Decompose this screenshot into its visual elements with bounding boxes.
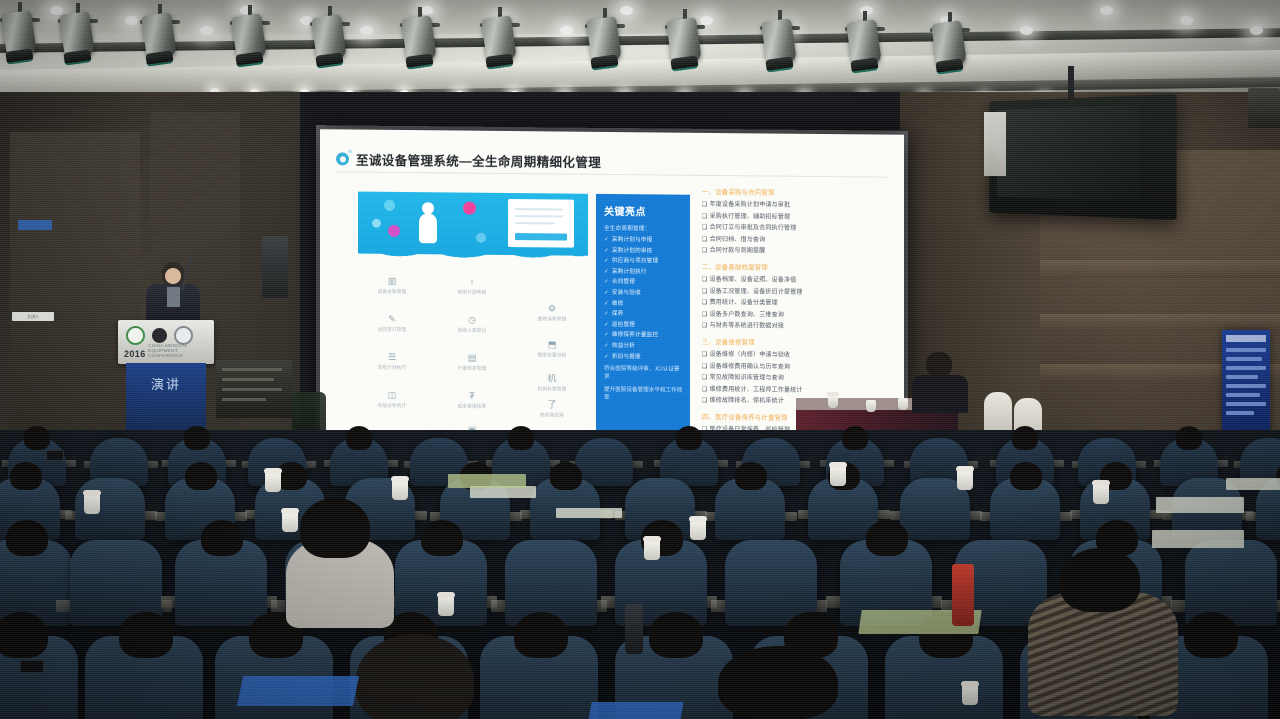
audience-person [300, 498, 370, 558]
cup-lid [827, 392, 839, 396]
poster-line [1226, 366, 1266, 370]
paper [1152, 530, 1244, 548]
check-icon: ✓ [604, 248, 609, 254]
paper-cup [392, 480, 408, 500]
feature-icon: ☰ [356, 352, 428, 364]
key-points-subheading: 全生命周期管理： [604, 224, 690, 233]
cup-lid [391, 476, 409, 482]
paper [556, 508, 622, 518]
checkbox-icon: ❑ [702, 312, 708, 318]
feature-section-heading: 二、设备基础档案管理 [702, 262, 890, 273]
poster-line [1226, 384, 1266, 388]
stage-spotlight [400, 17, 440, 73]
paper-cup [438, 596, 454, 616]
cup-lid [689, 516, 707, 522]
paper-cup [265, 472, 281, 492]
key-points-heading: 关键亮点 [604, 203, 690, 219]
slide-title-rule [336, 171, 888, 177]
downlight [1250, 26, 1263, 35]
feature-icon-label: 机构科室管理 [516, 386, 588, 393]
audience-person [514, 612, 568, 658]
audience-person [1060, 548, 1140, 612]
feature-section-item: ❑维修费用统计、工程师工作量统计 [702, 384, 890, 395]
check-icon: ✓ [604, 300, 609, 306]
key-point-item: ✓采购计划与申报 [604, 235, 690, 244]
paper-cup [644, 540, 660, 560]
key-point-item: ✓保养 [604, 309, 690, 318]
slide-icon-item: ◫效益分析统计 [356, 390, 428, 410]
podium: 2016 CHINA MEDICAL EQUIPMENT CONFERENCE … [118, 320, 214, 438]
slide-illustration-banner [358, 192, 588, 256]
illustration-card-button [515, 233, 567, 240]
key-point-item: ✓供应商与项目管理 [604, 256, 690, 265]
checkbox-icon: ❑ [702, 352, 708, 358]
downlight [360, 26, 373, 35]
water-bottle-red [952, 564, 974, 626]
check-icon: ✓ [604, 332, 609, 338]
audience-person [185, 462, 217, 490]
key-points-list: ✓采购计划与申报✓采购计划的审核✓供应商与项目管理✓采购计划执行✓合同管理✓安装… [596, 235, 690, 360]
poster-line [1226, 402, 1266, 406]
feature-icon-label: 采购计划申报 [436, 289, 508, 296]
audience-person [119, 612, 173, 658]
audience-person [0, 612, 48, 658]
feature-icon: 机 [516, 373, 588, 385]
paper-green [448, 474, 526, 488]
audience-person [676, 426, 702, 450]
wall-speaker-right [1248, 88, 1280, 128]
gear-icon [336, 152, 349, 165]
feature-section-item: ❑设备维修费用确认与历年查询 [702, 360, 890, 371]
cup-lid [1092, 480, 1110, 486]
illustration-login-card [508, 199, 574, 248]
slide-icon-item: ▥设备台账管理 [356, 276, 428, 296]
key-point-item: ✓安装与验收 [604, 288, 690, 297]
audience-person [356, 634, 474, 719]
key-point-item: ✓采购计划执行 [604, 267, 690, 276]
audience-person [866, 520, 908, 556]
checkbox-icon: ❑ [702, 213, 708, 219]
cup-lid [829, 462, 847, 468]
ceiling-monitor [989, 94, 1176, 220]
paper-cup [962, 685, 978, 705]
seated-attendee-head-table [912, 352, 968, 412]
audience-person [10, 462, 42, 490]
feature-section-item: ❑费用统计、设备分类管理 [702, 297, 890, 308]
person-illustration [418, 202, 438, 244]
podium-nameplate: 主讲人 [12, 312, 54, 321]
wall-band-a [1040, 260, 1280, 278]
key-point-item: ✓采购计划的审核 [604, 246, 690, 255]
downlight [200, 26, 213, 35]
decor-bubble [476, 233, 486, 243]
check-icon: ✓ [604, 279, 609, 285]
stage-spotlight [140, 14, 180, 70]
monitor-screen [997, 105, 1139, 201]
presenter [146, 262, 200, 324]
checkbox-icon: ❑ [702, 237, 708, 243]
poster-line [1226, 411, 1254, 415]
feature-icon-label: 成本费用核算 [436, 403, 508, 410]
downlight [1100, 6, 1113, 15]
feature-icon: ◷ [436, 314, 508, 326]
cup-lid [643, 536, 661, 542]
slide-icon-item: ⚙维修保养管理 [516, 303, 588, 323]
av-equipment-rack [216, 360, 292, 418]
cup-lid [961, 681, 979, 687]
presenter-shirt [167, 287, 180, 307]
feature-icon: ▤ [436, 352, 508, 364]
stage-spotlight [310, 16, 350, 72]
paper-cup [1093, 484, 1109, 504]
slide-icon-item: ◷验收入库登记 [436, 314, 508, 334]
feature-section-item: ❑合同付款与到期提醒 [702, 245, 890, 256]
downlight [560, 26, 573, 35]
paper-cup [957, 470, 973, 490]
checkbox-icon: ❑ [702, 387, 708, 393]
feature-icon-label: 设备台账管理 [356, 289, 428, 296]
checkbox-icon: ❑ [702, 300, 708, 306]
decor-bubble [372, 219, 381, 228]
checkbox-icon: ❑ [702, 398, 708, 404]
cup-lid [956, 466, 974, 472]
checkbox-icon: ❑ [702, 323, 708, 329]
slide-icon-item: ☰巡检计划执行 [356, 352, 428, 372]
slide-icon-grid: ▥设备台账管理↑采购计划申报✎合同签订管理◷验收入库登记⚙维修保养管理☰巡检计划… [356, 276, 596, 438]
key-point-item: ✓合同管理 [604, 277, 690, 286]
water-bottle-dark [625, 604, 643, 654]
audience-person [6, 520, 48, 556]
audience-person [1184, 612, 1238, 658]
slide-icon-item: ▤计量检定管理 [436, 352, 508, 372]
feature-icon: 了 [516, 399, 588, 411]
audience-person [718, 646, 838, 719]
poster-line [1226, 357, 1262, 361]
slide-title-row: 至诚设备管理系统—全生命周期精细化管理 [336, 149, 601, 171]
key-points-footnotes: 符合医院等级评审、JCI认证要求提升医院设备管理水平和工作效率 [596, 364, 690, 402]
paper-blue [588, 702, 683, 719]
paper-cup [282, 512, 298, 532]
feature-icon-label: 计量检定管理 [436, 365, 508, 372]
decor-bubble [463, 202, 476, 215]
monitor-side-panel [984, 112, 1006, 176]
poster-title-band [1226, 335, 1266, 342]
checkbox-icon: ❑ [702, 288, 708, 294]
audience-chair [575, 438, 633, 486]
feature-icon-label: 报废处置流程 [516, 352, 588, 359]
key-point-item: ✓效益分析 [604, 341, 690, 350]
audience-person [842, 426, 868, 450]
cup-lid [264, 468, 282, 474]
wall-poster [1222, 330, 1270, 434]
audience-person [184, 426, 210, 450]
stage-spotlight [480, 17, 520, 73]
slide-icon-item: ⬒报废处置流程 [516, 339, 588, 359]
downlight [1180, 16, 1193, 25]
circle-green-logo-icon [126, 326, 145, 345]
checkbox-icon: ❑ [702, 225, 708, 231]
feature-icon-label: 移动端应用 [516, 412, 588, 419]
downlight [620, 6, 633, 15]
key-points-footnote: 提升医院设备管理水平和工作效率 [604, 385, 684, 402]
feature-section-item: ❑与财务等系统进行数据对接 [702, 320, 890, 331]
ceiling-back-panel [0, 0, 1280, 34]
paper-blue [237, 676, 359, 706]
feature-section-item: ❑常见故障知识库管理与查询 [702, 372, 890, 383]
paper [1156, 497, 1244, 513]
cup-lid [437, 592, 455, 598]
feature-icon: ✎ [356, 314, 428, 326]
downlight [125, 16, 138, 25]
feature-section-item: ❑设备维修（内修）申请与验收 [702, 349, 890, 360]
stage-spotlight [665, 19, 705, 75]
presenter-face [165, 268, 181, 284]
audience-person [550, 462, 582, 490]
circle-dark-logo-icon [152, 328, 167, 343]
paper-cup [830, 466, 846, 486]
feature-icon-label: 巡检计划执行 [356, 365, 428, 372]
slide-title: 至诚设备管理系统—全生命周期精细化管理 [356, 150, 601, 171]
cup [866, 400, 876, 412]
feature-section-heading: 一、设备采购与合同管理 [702, 187, 890, 198]
wall-band-b [1040, 314, 1280, 330]
stage-spotlight [58, 13, 98, 69]
stage-spotlight [845, 21, 885, 77]
poster-line [1226, 393, 1260, 397]
feature-section-item: ❑年度设备采购计划申请与审批 [702, 199, 890, 210]
stage-spotlight [930, 22, 970, 78]
podium-nameplate-label: 主讲人 [12, 312, 54, 321]
audience-person [1010, 462, 1042, 490]
slide-icon-item: 了移动端应用 [516, 399, 588, 419]
stage-spotlight [0, 12, 40, 68]
audience-person [508, 426, 534, 450]
wall-logo-badge [18, 220, 52, 230]
feature-icon: ↑ [436, 276, 508, 288]
check-icon: ✓ [604, 237, 609, 243]
key-point-item: ✓维修保养计量监控 [604, 330, 690, 339]
audience-person [735, 462, 767, 490]
audience-person [1176, 426, 1202, 450]
feature-section-item: ❑合同归档、借与查询 [702, 234, 890, 245]
podium-event-tag: CHINA MEDICAL EQUIPMENT CONFERENCE [148, 343, 214, 358]
checkbox-icon: ❑ [702, 248, 708, 254]
check-icon: ✓ [604, 269, 609, 275]
cup [898, 398, 908, 410]
checkbox-icon: ❑ [702, 375, 708, 381]
podium-year: 2016 [124, 349, 146, 359]
feature-section-item: ❑设备工况管理、设备折旧计提管理 [702, 285, 890, 296]
check-icon: ✓ [604, 322, 609, 328]
podium-banner-word: 演讲 [126, 377, 206, 393]
feature-section-heading: 三、设备维修管理 [702, 337, 890, 348]
mobile-phone [46, 450, 64, 461]
feature-icon-label: 合同签订管理 [356, 327, 428, 334]
feature-icon-label: 验收入库登记 [436, 327, 508, 334]
feature-section-item: ❑设备档案、设备证照、设备净值 [702, 274, 890, 285]
feature-icon: ₮ [436, 390, 508, 402]
cup-lid [83, 490, 101, 496]
audience-person [649, 612, 703, 658]
audience-person [421, 520, 463, 556]
stage-spotlight [230, 15, 270, 71]
check-icon: ✓ [604, 353, 609, 359]
feature-icon: ▥ [356, 276, 428, 288]
audience-person [1012, 426, 1038, 450]
stage-spotlight [585, 18, 625, 74]
downlight [1020, 26, 1033, 35]
checkbox-icon: ❑ [702, 277, 708, 283]
check-icon: ✓ [604, 343, 609, 349]
feature-icon: ⚙ [516, 303, 588, 315]
paper [1226, 478, 1280, 490]
cup [828, 396, 838, 408]
conference-hall-scene: 至诚设备管理系统—全生命周期精细化管理 [0, 0, 1280, 719]
check-icon: ✓ [604, 258, 609, 264]
feature-icon-label: 维修保养管理 [516, 316, 588, 323]
cup-lid [281, 508, 299, 514]
mobile-phone [20, 660, 44, 673]
feature-section-item: ❑设备多户数查询、三维查询 [702, 309, 890, 320]
feature-section-item: ❑采购执行管理、辅助招标管理 [702, 210, 890, 221]
checkbox-icon: ❑ [702, 363, 708, 369]
check-icon: ✓ [604, 311, 609, 317]
check-icon: ✓ [604, 290, 609, 296]
feature-icon-label: 效益分析统计 [356, 403, 428, 410]
key-point-item: ✓维修 [604, 298, 690, 307]
checkbox-icon: ❑ [702, 202, 708, 208]
slide-icon-item: ✎合同签订管理 [356, 314, 428, 334]
key-point-item: ✓巡检管理 [604, 320, 690, 329]
feature-icon: ◫ [356, 390, 428, 402]
monitor-mount-arm [1068, 66, 1074, 102]
stage-spotlight [760, 20, 800, 76]
paper-cup [84, 494, 100, 514]
slide-icon-item: ₮成本费用核算 [436, 390, 508, 410]
key-points-footnote: 符合医院等级评审、JCI认证要求 [604, 364, 684, 381]
decor-bubble [388, 225, 400, 237]
podium-front-sign: 2016 CHINA MEDICAL EQUIPMENT CONFERENCE [118, 320, 214, 364]
key-point-item: ✓折旧与报废 [604, 351, 690, 360]
slide-icon-item: ↑采购计划申报 [436, 276, 508, 296]
poster-line [1226, 375, 1258, 379]
feature-icon: ⬒ [516, 339, 588, 351]
decor-bubble [384, 200, 395, 211]
audience-person [201, 520, 243, 556]
poster-line [1226, 348, 1266, 352]
key-points-panel: 关键亮点 全生命周期管理： ✓采购计划与申报✓采购计划的审核✓供应商与项目管理✓… [596, 194, 690, 438]
feature-section-item: ❑合同订立与审批及合同执行管理 [702, 222, 890, 233]
slide-icon-item: 机机构科室管理 [516, 373, 588, 393]
wall-speaker-left [262, 236, 288, 298]
illustration-wave [358, 249, 588, 265]
paper-cup [690, 520, 706, 540]
audience-person [346, 426, 372, 450]
audience-person [24, 426, 50, 450]
